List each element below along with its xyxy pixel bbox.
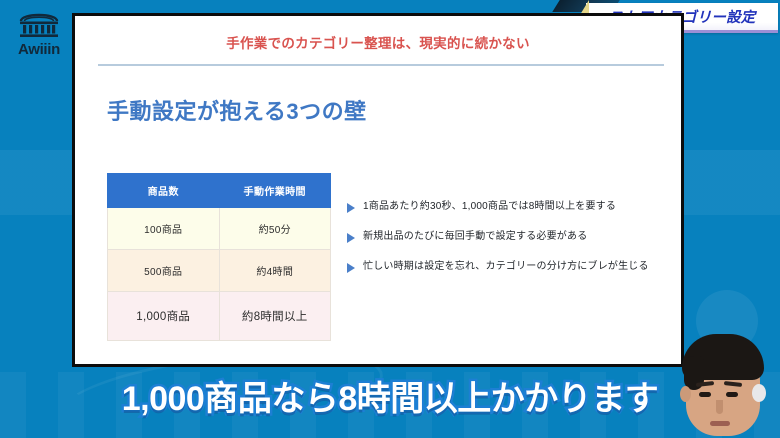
avatar-eye-right [726,392,738,397]
table-header-cell: 商品数 [108,174,220,208]
list-item: 新規出品のたびに毎回手動で設定する必要がある [347,230,669,243]
slide-divider [98,64,664,66]
table-row: 100商品 約50分 [108,208,331,250]
avatar-ear-left [680,386,691,402]
table-row: 500商品 約4時間 [108,250,331,292]
list-item-label: 1商品あたり約30秒、1,000商品では8時間以上を要する [363,200,616,213]
slide-title: 手動設定が抱える3つの壁 [107,94,367,126]
slide-headline: 手作業でのカテゴリー整理は、現実的に続かない [75,32,681,52]
subtitle-caption: 1,000商品なら8時間以上かかります [0,371,780,420]
list-item: 忙しい時期は設定を忘れ、カテゴリーの分け方にブレが生じる [347,260,669,273]
triangle-right-icon [347,203,355,213]
list-item: 1商品あたり約30秒、1,000商品では8時間以上を要する [347,200,669,213]
table-cell-manual-time: 約4時間 [219,250,331,292]
table-cell-manual-time: 約8時間以上 [219,292,331,341]
presenter-webcam [668,320,780,438]
avatar-earbud [752,384,766,402]
slide-content: 手作業でのカテゴリー整理は、現実的に続かない 手動設定が抱える3つの壁 商品数 … [75,16,681,364]
table-cell-product-count: 1,000商品 [108,292,220,341]
table-cell-product-count: 500商品 [108,250,220,292]
bullet-list: 1商品あたり約30秒、1,000商品では8時間以上を要する 新規出品のたびに毎回… [347,200,669,290]
triangle-right-icon [347,263,355,273]
bank-building-icon [8,8,70,40]
presentation-slide: 手作業でのカテゴリー整理は、現実的に続かない 手動設定が抱える3つの壁 商品数 … [72,13,684,367]
table-header-row: 商品数 手動作業時間 [108,174,331,208]
avatar-nose [716,400,723,414]
brand-name: Awiiin [8,41,70,58]
triangle-right-icon [347,233,355,243]
brand-logo: Awiiin [8,8,70,58]
table-cell-manual-time: 約50分 [219,208,331,250]
table-cell-product-count: 100商品 [108,208,220,250]
list-item-label: 新規出品のたびに毎回手動で設定する必要がある [363,230,587,243]
avatar-mouth [710,421,730,426]
video-frame: Awiiin ストアカテゴリー設定 手作業でのカテゴリー整理は、現実的に続かない… [0,0,780,438]
table-row: 1,000商品 約8時間以上 [108,292,331,341]
avatar-eye-left [699,392,711,397]
workload-table: 商品数 手動作業時間 100商品 約50分 500商品 約4時間 1,000商品 [107,173,331,341]
list-item-label: 忙しい時期は設定を忘れ、カテゴリーの分け方にブレが生じる [363,260,649,273]
table-header-cell: 手動作業時間 [219,174,331,208]
